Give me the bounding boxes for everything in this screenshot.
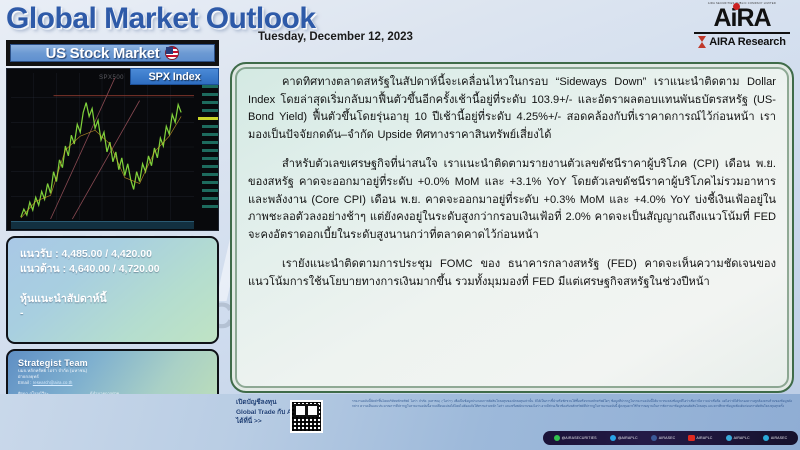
hourglass-icon xyxy=(698,36,706,48)
social-link-youtube[interactable]: AIRAPLC xyxy=(688,435,712,442)
social-link-facebook[interactable]: AIRASEC xyxy=(651,435,675,442)
logo-divider xyxy=(694,32,790,34)
social-label: @AIRASECURITIES xyxy=(562,436,597,440)
slide-root: WWW. AIRASECURITIES @AIRAPLC Global Mark… xyxy=(0,0,800,450)
support-level: แนวรับ : 4,485.00 / 4,420.00 xyxy=(20,247,205,262)
social-label: AIRASEC xyxy=(771,436,787,440)
aira-logo: AIRA SECURITIES PUBLIC COMPANY LIMITED A… xyxy=(690,2,794,48)
qr-code-icon[interactable] xyxy=(290,400,323,433)
social-label: @AIRAPLC xyxy=(618,436,638,440)
team-email-link[interactable]: research@aira.co.th xyxy=(33,380,73,385)
commentary-paragraph: สำหรับตัวเลขเศรษฐกิจที่น่าสนใจ เราแนะนำต… xyxy=(248,156,776,244)
resistance-level: แนวต้าน : 4,640.00 / 4,720.00 xyxy=(20,262,205,277)
levels-card: แนวรับ : 4,485.00 / 4,420.00 แนวต้าน : 4… xyxy=(6,236,219,344)
social-link-line[interactable]: @AIRASECURITIES xyxy=(554,435,597,442)
chart-svg xyxy=(11,73,194,220)
weekly-pick-value: - xyxy=(20,307,205,319)
price-ladder xyxy=(196,73,218,220)
spx-chart: SPX500 xyxy=(6,68,219,231)
commentary-paragraph: เรายังแนะนำติดตามการประชุม FOMC ของ ธนาค… xyxy=(248,256,776,291)
youtube-icon xyxy=(688,435,695,442)
chart-x-axis xyxy=(11,221,194,229)
us-stock-market-band-inner: US Stock Market xyxy=(10,44,215,62)
twitter-icon xyxy=(610,435,617,442)
weekly-pick-heading: หุ้นแนะนำสัปดาห์นี้ xyxy=(20,290,205,307)
social-label: AIRASEC xyxy=(659,436,675,440)
strategist-team-title: Strategist Team xyxy=(18,358,207,368)
telegram-icon xyxy=(763,435,770,442)
us-stock-market-label: US Stock Market xyxy=(46,45,160,62)
disclaimer-text: รายงานฉบับนี้จัดทำขึ้นโดยบริษัทหลักทรัพย… xyxy=(352,399,792,408)
logo-wordmark: AiRA xyxy=(713,6,770,31)
social-label: AIRAPLC xyxy=(696,436,712,440)
linkedin-icon xyxy=(726,435,733,442)
social-link-telegram[interactable]: AIRASEC xyxy=(763,435,787,442)
facebook-icon xyxy=(651,435,658,442)
report-date: Tuesday, December 12, 2023 xyxy=(258,31,413,43)
social-link-linkedin[interactable]: AIRAPLC xyxy=(726,435,750,442)
qr-promo[interactable]: เปิดบัญชีลงทุน Global Trade กับ AIRA ได้… xyxy=(236,398,344,427)
logo-subtitle: AIRA Research xyxy=(690,36,794,48)
team-email-label: Email : xyxy=(18,380,32,385)
social-links-bar: @AIRASECURITIES @AIRAPLC AIRASEC AIRAPLC… xyxy=(543,431,798,445)
logo-wordmark-text: AiRA xyxy=(713,4,770,32)
logo-subtitle-text: AIRA Research xyxy=(709,36,785,48)
us-stock-market-band: US Stock Market xyxy=(6,40,219,66)
line-icon xyxy=(554,435,561,442)
social-link-twitter[interactable]: @AIRAPLC xyxy=(610,435,638,442)
us-flag-icon xyxy=(165,46,179,60)
market-commentary-panel: คาดทิศทางตลาดสหรัฐในสัปดาห์นี้จะเคลื่อนไ… xyxy=(230,62,794,393)
spx-index-tag: SPX Index xyxy=(130,68,219,85)
social-label: AIRAPLC xyxy=(734,436,750,440)
spx-index-label: SPX Index xyxy=(149,71,201,83)
commentary-paragraph: คาดทิศทางตลาดสหรัฐในสัปดาห์นี้จะเคลื่อนไ… xyxy=(248,74,776,144)
chart-plot-area xyxy=(11,73,194,220)
